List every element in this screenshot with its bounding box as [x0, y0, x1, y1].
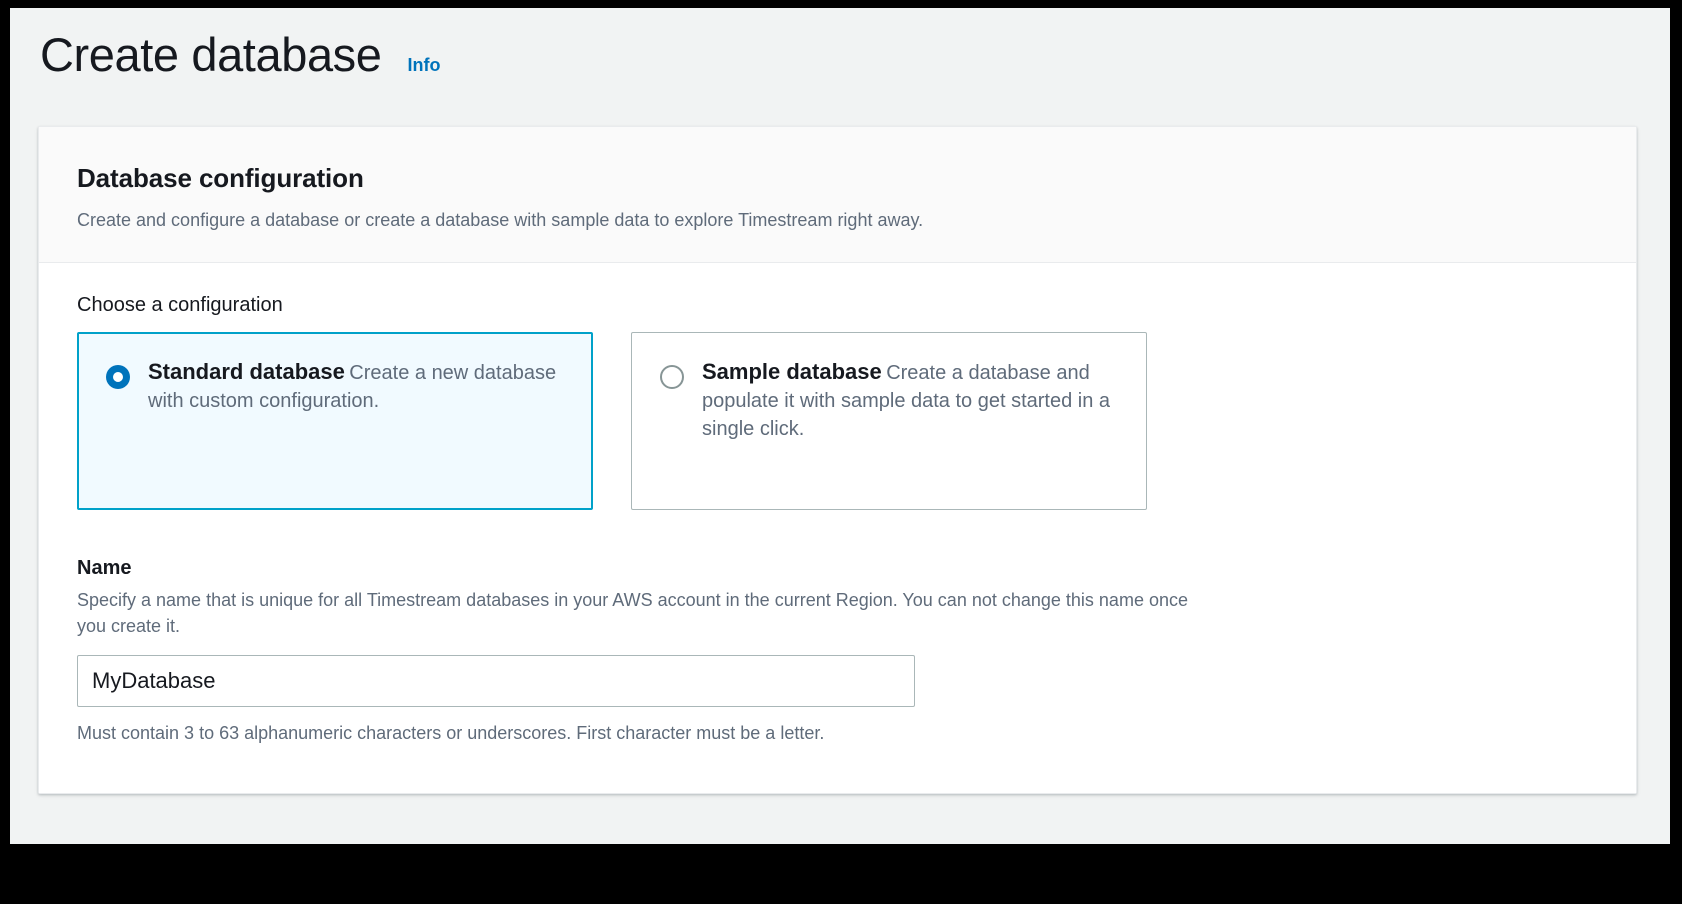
- page-header: Create database Info: [10, 8, 1670, 120]
- info-link[interactable]: Info: [408, 55, 441, 76]
- name-field-label: Name: [77, 556, 1598, 581]
- name-field-constraint: Must contain 3 to 63 alphanumeric charac…: [77, 721, 1598, 746]
- page-title: Create database: [40, 30, 382, 79]
- configuration-label: Choose a configuration: [77, 293, 1598, 318]
- tile-text: Standard database Create a new database …: [148, 359, 568, 415]
- configuration-tile-standard[interactable]: Standard database Create a new database …: [77, 332, 593, 510]
- configuration-radio-group: Standard database Create a new database …: [77, 332, 1598, 510]
- database-configuration-card: Database configuration Create and config…: [38, 126, 1637, 794]
- card-heading: Database configuration: [77, 163, 1598, 194]
- screenshot-frame: Create database Info Database configurat…: [0, 0, 1682, 904]
- configuration-tile-sample[interactable]: Sample database Create a database and po…: [631, 332, 1147, 510]
- configuration-tile-standard-title: Standard database: [148, 359, 345, 384]
- console-viewport: Create database Info Database configurat…: [10, 8, 1670, 844]
- card-header: Database configuration Create and config…: [39, 127, 1636, 263]
- radio-selected-icon[interactable]: [106, 365, 130, 389]
- name-field-description: Specify a name that is unique for all Ti…: [77, 587, 1197, 639]
- radio-unselected-icon[interactable]: [660, 365, 684, 389]
- database-name-input[interactable]: [77, 655, 915, 707]
- configuration-tile-sample-title: Sample database: [702, 359, 882, 384]
- tile-text: Sample database Create a database and po…: [702, 359, 1122, 443]
- card-body: Choose a configuration Standard database…: [39, 263, 1636, 792]
- card-description: Create and configure a database or creat…: [77, 208, 1598, 232]
